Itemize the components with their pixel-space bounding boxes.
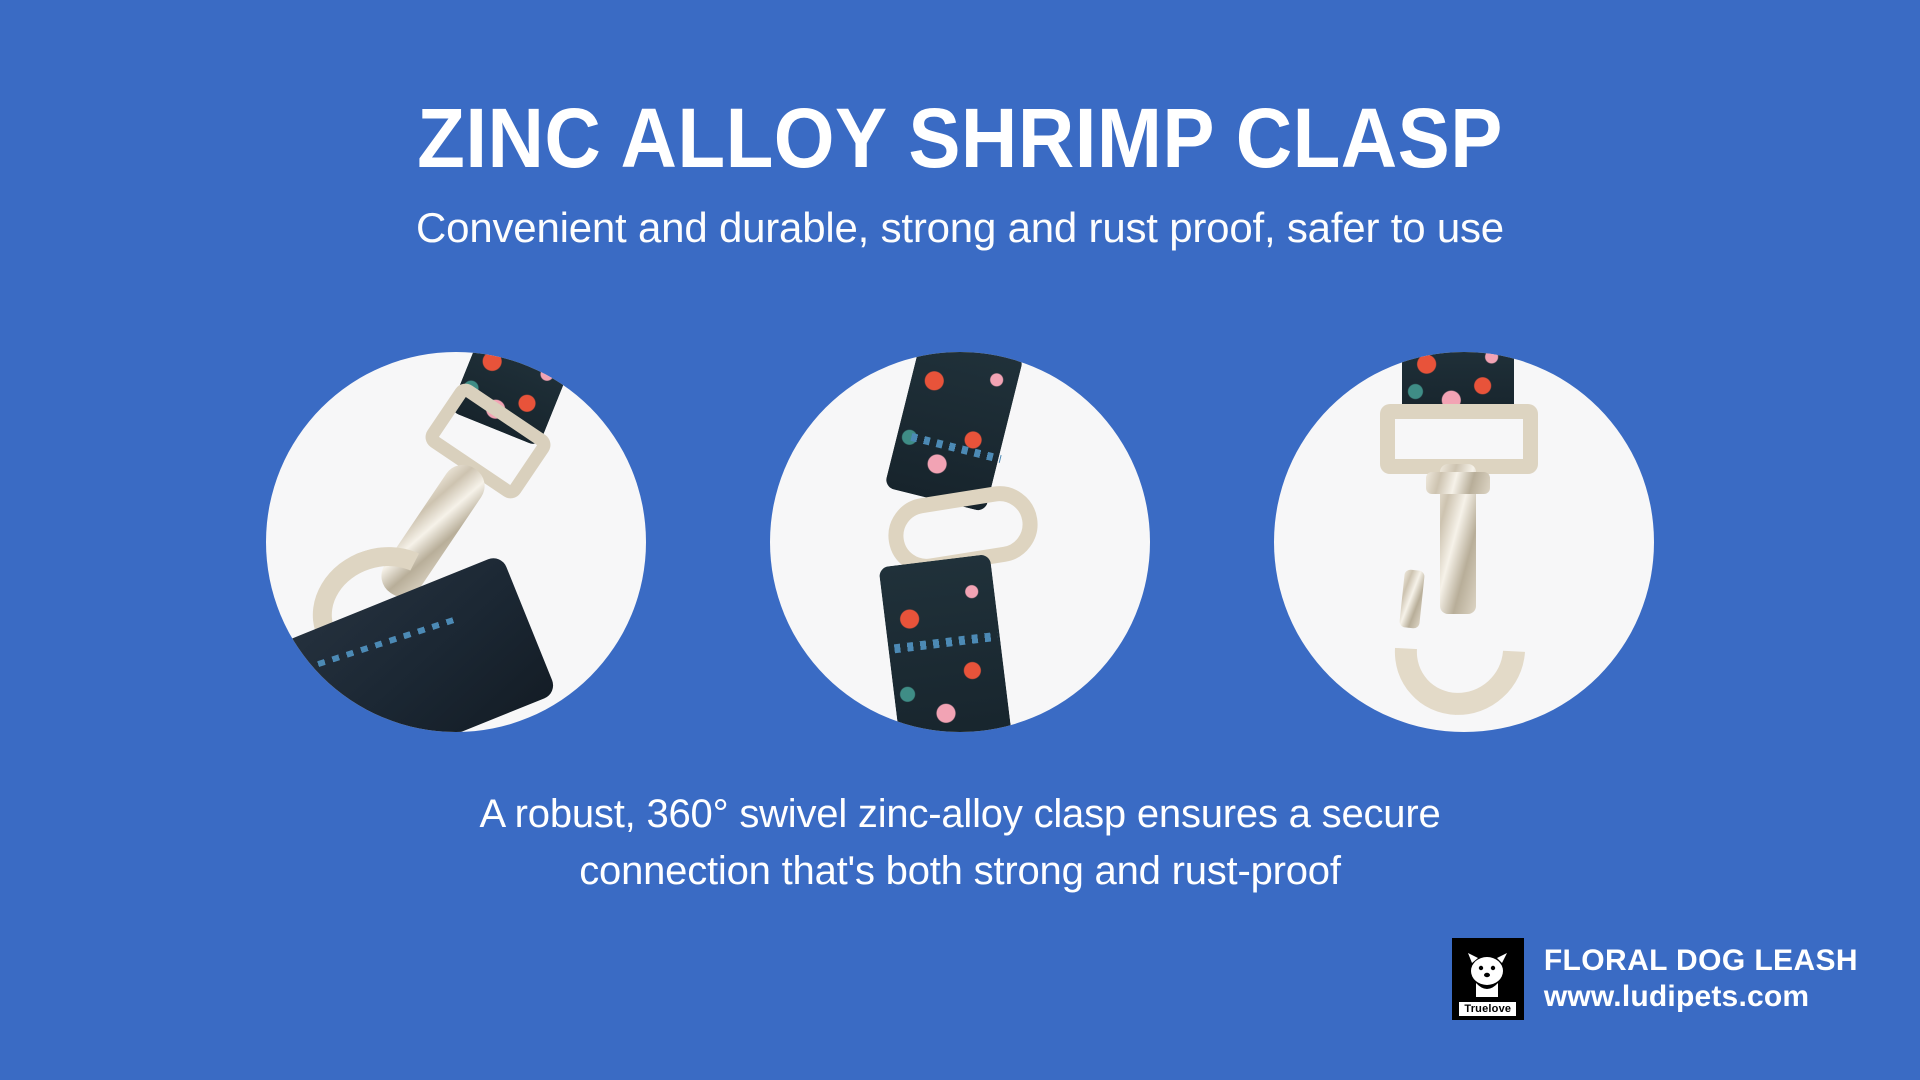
header: ZINC ALLOY SHRIMP CLASP Convenient and d… [0, 96, 1920, 252]
clasp-collar-graphic [1426, 472, 1490, 494]
website-url: www.ludipets.com [1544, 979, 1858, 1015]
product-photo-swivel-link [770, 352, 1150, 732]
description-text: A robust, 360° swivel zinc-alloy clasp e… [0, 786, 1920, 900]
truelove-dog-logo-icon [1462, 949, 1514, 999]
infographic-poster: ZINC ALLOY SHRIMP CLASP Convenient and d… [0, 0, 1920, 1080]
page-title: ZINC ALLOY SHRIMP CLASP [67, 96, 1853, 180]
product-gallery [0, 352, 1920, 732]
brand-text-block: FLORAL DOG LEASH www.ludipets.com [1544, 943, 1858, 1015]
footer-branding: Truelove FLORAL DOG LEASH www.ludipets.c… [1452, 938, 1858, 1020]
snap-hook-graphic [1368, 558, 1552, 732]
description-line-1: A robust, 360° swivel zinc-alloy clasp e… [0, 786, 1920, 843]
description-line-2: connection that's both strong and rust-p… [0, 843, 1920, 900]
product-name: FLORAL DOG LEASH [1544, 943, 1858, 979]
page-subtitle: Convenient and durable, strong and rust … [0, 204, 1920, 252]
truelove-logo-badge: Truelove [1452, 938, 1524, 1020]
product-photo-clasp-angled [266, 352, 646, 732]
truelove-logo-wordmark: Truelove [1459, 1002, 1516, 1016]
product-photo-snap-hook [1274, 352, 1654, 732]
